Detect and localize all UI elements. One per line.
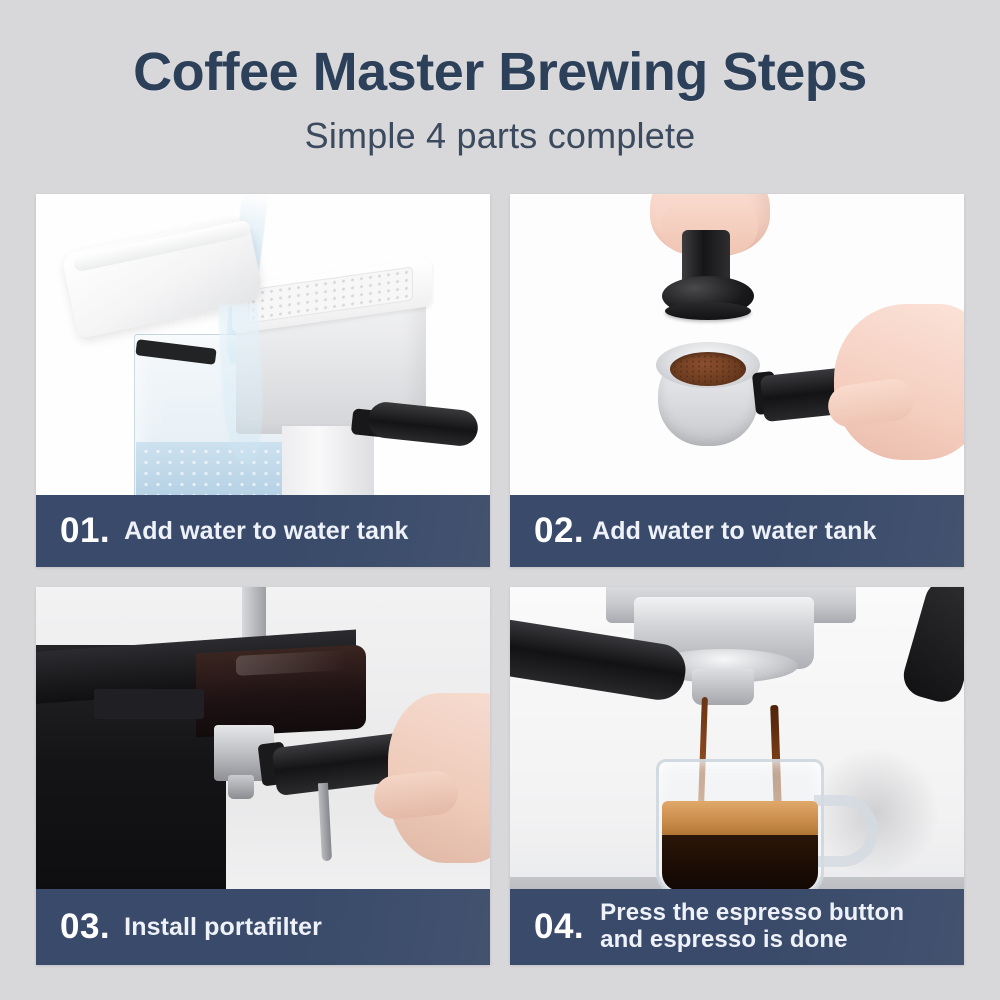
poster-header: Coffee Master Brewing Steps Simple 4 par…	[0, 0, 1000, 157]
infographic-poster: Coffee Master Brewing Steps Simple 4 par…	[0, 0, 1000, 1000]
step-card-04[interactable]: 04. Press the espresso button and espres…	[510, 587, 964, 965]
step-caption-line-2: and espresso is done	[600, 926, 847, 953]
step-number-02: 02.	[534, 511, 584, 551]
step-caption-04: 04. Press the espresso button and espres…	[510, 889, 964, 965]
chrome-nozzle	[228, 775, 254, 799]
step-caption-text-02: Add water to water tank	[592, 517, 876, 545]
step-card-01[interactable]: 01. Add water to water tank	[36, 194, 490, 567]
coffee-grounds-texture	[672, 354, 744, 384]
step-number-03: 03.	[60, 907, 110, 947]
page-title: Coffee Master Brewing Steps	[0, 44, 1000, 101]
step-caption-text-01: Add water to water tank	[124, 517, 408, 545]
espresso-liquid	[662, 835, 818, 891]
page-subtitle: Simple 4 parts complete	[0, 115, 1000, 157]
control-panel-inset	[94, 689, 204, 719]
steps-grid: 01. Add water to water tank	[36, 194, 964, 965]
step-caption-02: 02. Add water to water tank	[510, 495, 964, 567]
tamper-rim	[665, 302, 751, 320]
step-caption-text-03: Install portafilter	[124, 913, 322, 941]
step-caption-text-04: Press the espresso button and espresso i…	[600, 900, 904, 954]
step-number-04: 04.	[534, 907, 584, 947]
step-caption-01: 01. Add water to water tank	[36, 495, 490, 567]
step-card-02[interactable]: 02. Add water to water tank	[510, 194, 964, 567]
step-number-01: 01.	[60, 511, 110, 551]
step-card-03[interactable]: 03. Install portafilter	[36, 587, 490, 965]
espresso-crema	[662, 801, 818, 839]
step-caption-line-1: Press the espresso button	[600, 899, 904, 926]
step-caption-03: 03. Install portafilter	[36, 889, 490, 965]
